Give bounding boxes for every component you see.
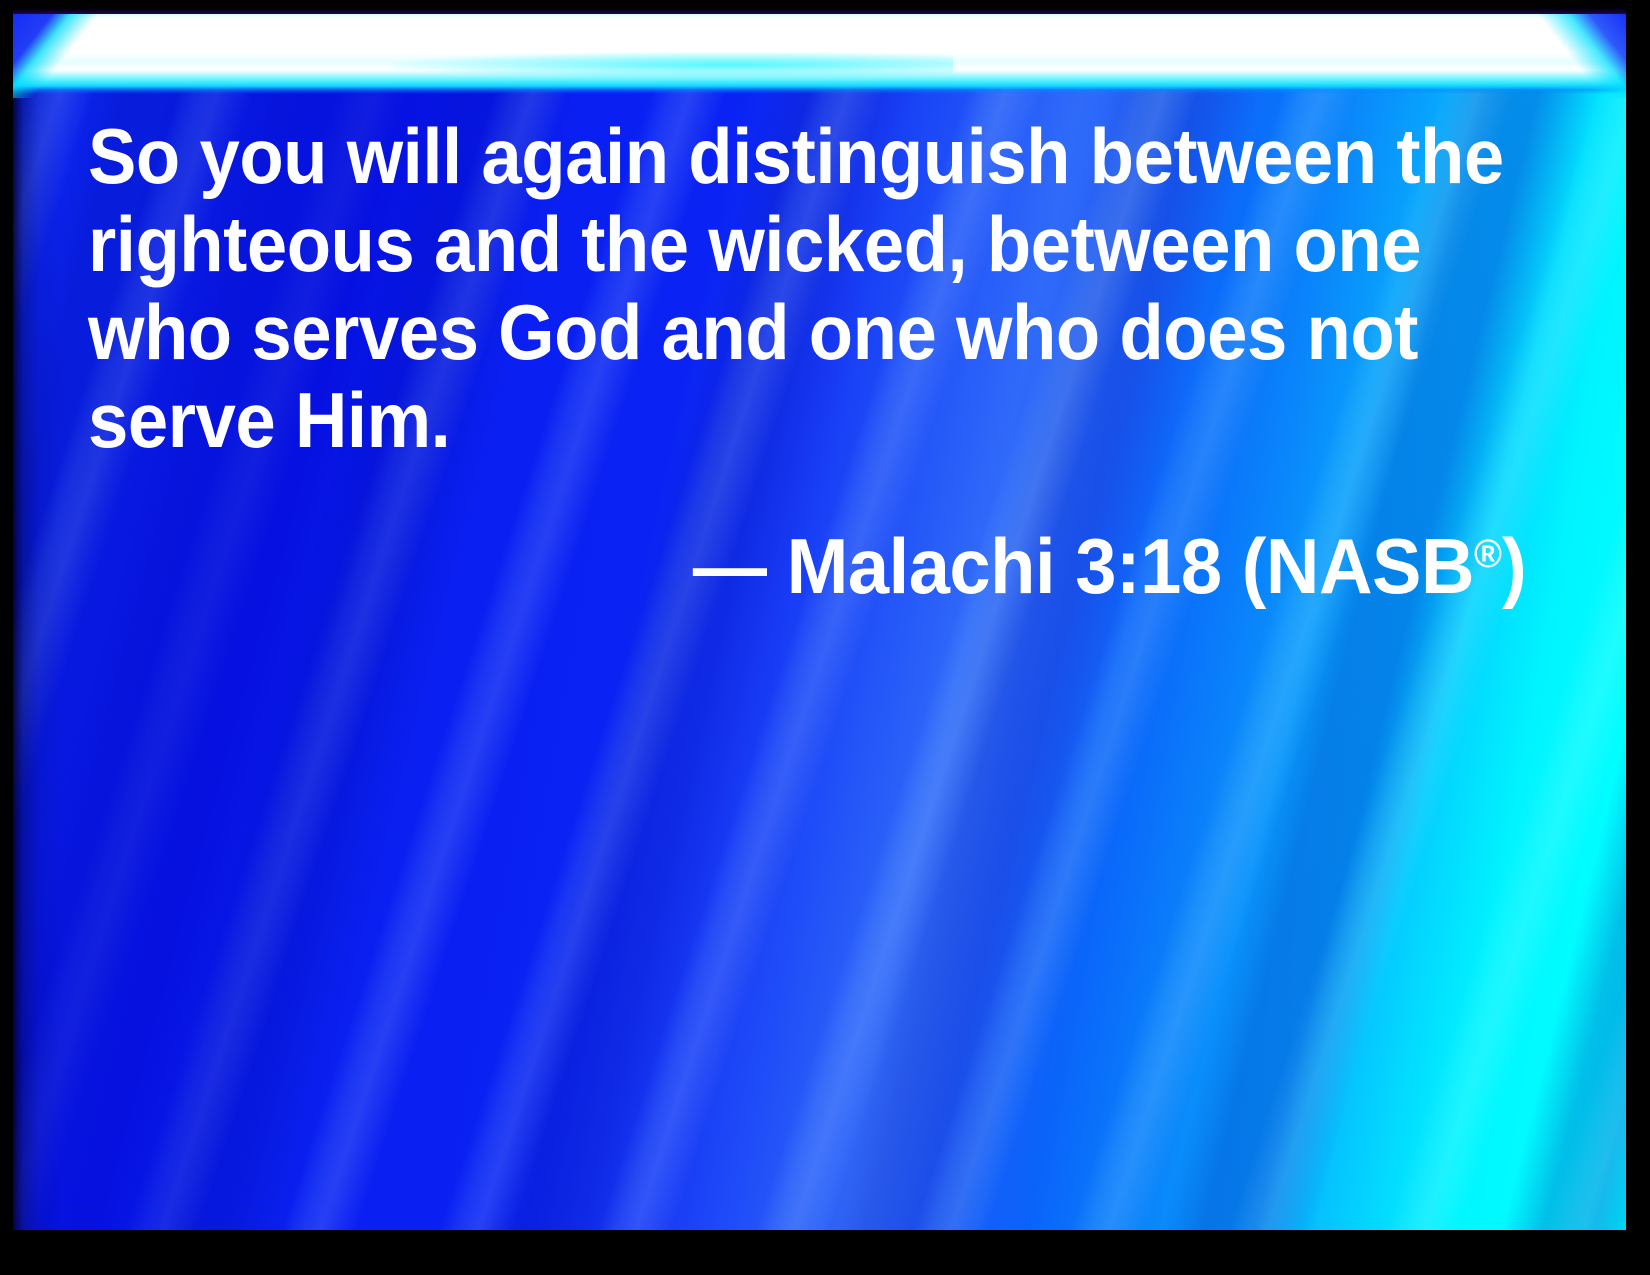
top-glow-smudge [393, 52, 953, 78]
verse-line-1: So you will again distinguish between th… [88, 112, 1446, 200]
top-glow-left-bevel [13, 8, 99, 98]
top-glow-right-bevel [1540, 8, 1626, 98]
attribution-spacer-3 [1221, 522, 1241, 610]
chapter-verse: 3:18 [1075, 522, 1221, 610]
verse-line-3: who serves God and one who does not [88, 288, 1446, 376]
verse-line-2: righteous and the wicked, between one [88, 200, 1446, 288]
registered-trademark-icon: ® [1474, 532, 1502, 576]
verse-line-4: serve Him. [88, 376, 1446, 464]
attribution-spacer-2 [1055, 522, 1075, 610]
top-glow-band [13, 8, 1626, 94]
verse-text-block: So you will again distinguish between th… [88, 112, 1548, 608]
top-edge-rule [13, 8, 1626, 14]
slide-artwork-canvas: So you will again distinguish between th… [13, 8, 1626, 1230]
em-dash: — [693, 522, 767, 610]
translation-close-paren: ) [1502, 522, 1526, 610]
translation-open-paren: (NASB [1242, 522, 1474, 610]
verse-attribution: — Malachi 3:18 (NASB®) [88, 512, 1548, 608]
scripture-slide: So you will again distinguish between th… [0, 0, 1650, 1275]
attribution-line: — Malachi 3:18 (NASB®) [693, 512, 1526, 608]
book-name: Malachi [786, 522, 1054, 610]
attribution-spacer-1 [766, 522, 786, 610]
